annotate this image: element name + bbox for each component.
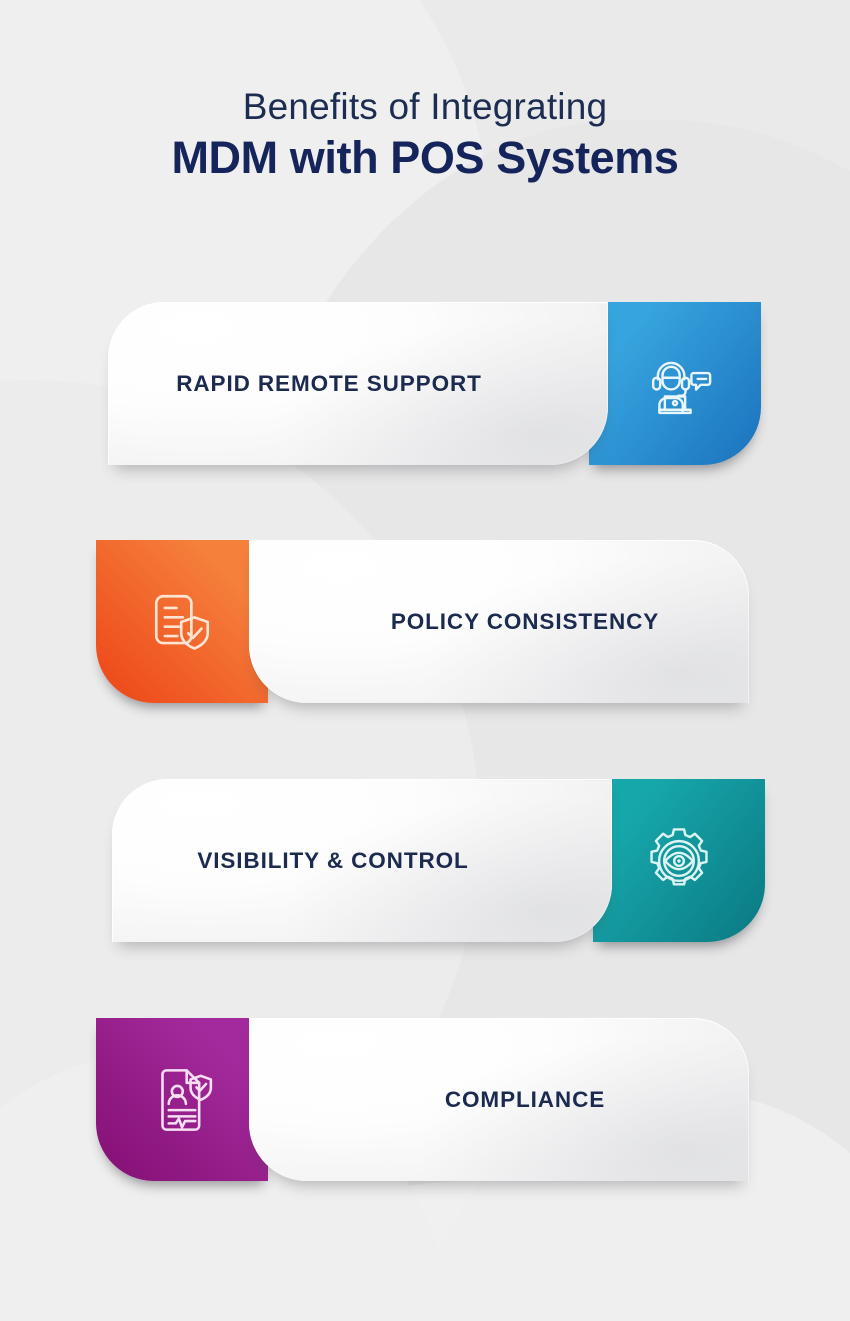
card-panel: POLICY CONSISTENCY xyxy=(249,540,749,703)
card-label: RAPID REMOTE SUPPORT xyxy=(108,371,608,397)
accent-panel-teal xyxy=(593,779,765,942)
document-person-shield-icon xyxy=(143,1061,221,1139)
card-panel: VISIBILITY & CONTROL xyxy=(112,779,612,942)
accent-panel-purple xyxy=(96,1018,268,1181)
card-panel: COMPLIANCE xyxy=(249,1018,749,1181)
card-panel: RAPID REMOTE SUPPORT xyxy=(108,302,608,465)
gear-eye-icon xyxy=(640,822,718,900)
title-line-primary: Benefits of Integrating xyxy=(0,86,850,127)
page-title: Benefits of Integrating MDM with POS Sys… xyxy=(0,86,850,186)
accent-panel-orange xyxy=(96,540,268,703)
benefit-card-compliance[interactable]: COMPLIANCE xyxy=(96,1018,749,1181)
title-line-secondary: MDM with POS Systems xyxy=(0,131,850,186)
card-label: COMPLIANCE xyxy=(249,1087,749,1113)
benefit-card-rapid-remote-support[interactable]: RAPID REMOTE SUPPORT xyxy=(108,302,761,465)
card-label: VISIBILITY & CONTROL xyxy=(112,848,612,874)
document-shield-check-icon xyxy=(143,583,221,661)
background-blob-bottom-center xyxy=(140,1180,840,1321)
headset-support-agent-icon xyxy=(636,345,714,423)
benefit-card-visibility-control[interactable]: VISIBILITY & CONTROL xyxy=(112,779,765,942)
benefit-card-policy-consistency[interactable]: POLICY CONSISTENCY xyxy=(96,540,749,703)
accent-panel-blue xyxy=(589,302,761,465)
card-label: POLICY CONSISTENCY xyxy=(249,609,749,635)
